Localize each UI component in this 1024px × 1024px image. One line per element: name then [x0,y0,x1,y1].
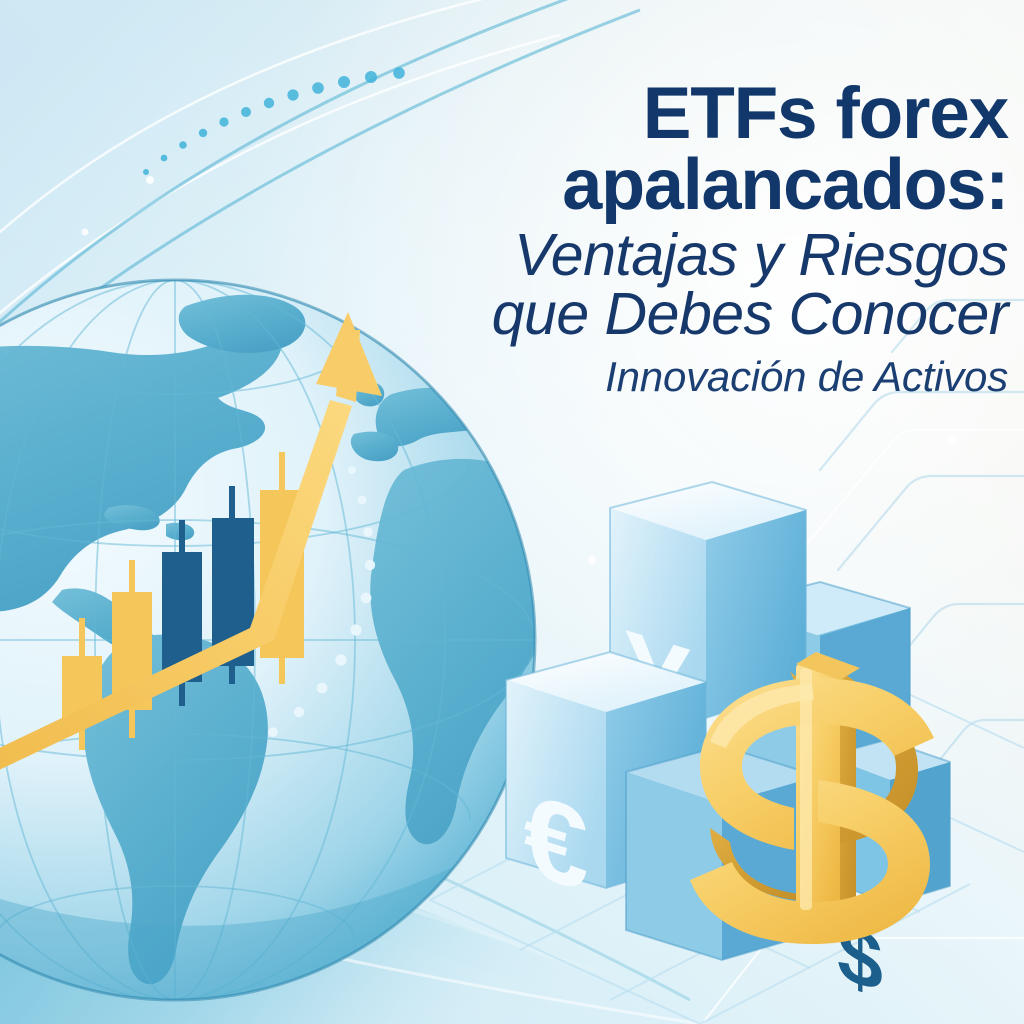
euro-symbol: € [524,769,589,918]
currency-cubes-group: ¥ € $ [0,0,1024,1024]
promo-banner: ¥ € $ [0,0,1024,1024]
